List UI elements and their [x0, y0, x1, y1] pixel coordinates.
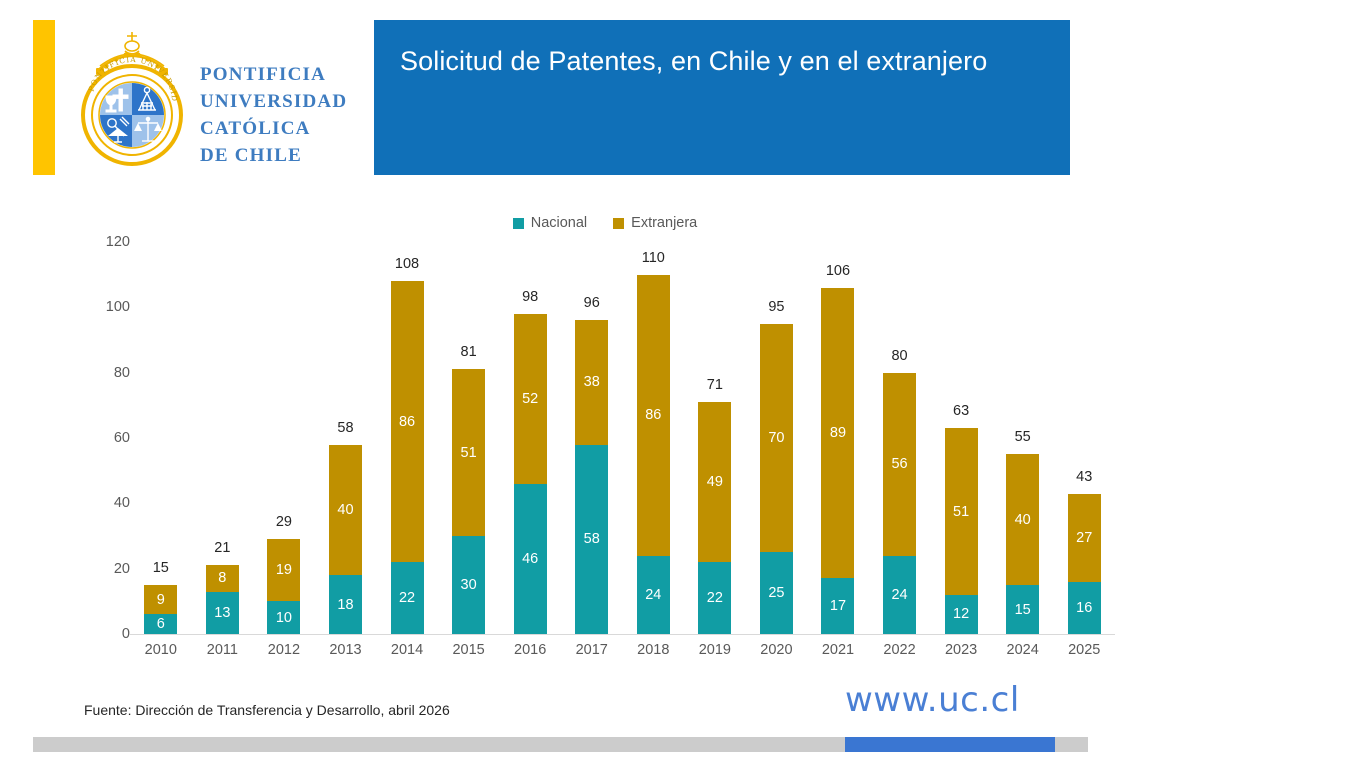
- bar-segment-value: 40: [1006, 512, 1039, 527]
- bar-segment-extranjera-2014[interactable]: 86: [391, 281, 424, 562]
- bar-stack: 1910: [267, 539, 300, 634]
- bar-segment-nacional-2023[interactable]: 12: [945, 595, 978, 634]
- bar-segment-value: 51: [452, 445, 485, 460]
- bar-stack: 5246: [514, 314, 547, 634]
- bar-total-label-2021: 106: [807, 264, 869, 279]
- bar-total-label-2013: 58: [315, 421, 377, 436]
- bar-segment-value: 52: [514, 392, 547, 407]
- bar-segment-nacional-2021[interactable]: 17: [821, 578, 854, 634]
- legend-label: Extranjera: [631, 216, 697, 231]
- bar-segment-extranjera-2010[interactable]: 9: [144, 585, 177, 614]
- bar-segment-value: 86: [637, 408, 670, 423]
- bar-segment-value: 58: [575, 532, 608, 547]
- bar-total-label-2019: 71: [684, 378, 746, 393]
- x-axis-tick-2021: 2021: [807, 642, 869, 658]
- bar-segment-extranjera-2015[interactable]: 51: [452, 369, 485, 536]
- bar-stack: 2716: [1068, 494, 1101, 634]
- x-axis-tick-2011: 2011: [192, 642, 254, 658]
- bar-total-label-2023: 63: [930, 404, 992, 419]
- bar-segment-value: 16: [1068, 601, 1101, 616]
- x-axis-tick-2015: 2015: [438, 642, 500, 658]
- bar-segment-nacional-2013[interactable]: 18: [329, 575, 362, 634]
- bar-segment-value: 40: [329, 503, 362, 518]
- y-axis-tick-20: 20: [84, 561, 130, 577]
- y-axis-tick-80: 80: [84, 365, 130, 381]
- bar-segment-extranjera-2024[interactable]: 40: [1006, 454, 1039, 585]
- bar-column-2021[interactable]: 89171062021: [807, 242, 869, 634]
- x-axis-tick-2014: 2014: [376, 642, 438, 658]
- bar-column-2010[interactable]: 96152010: [130, 242, 192, 634]
- brand-accent-bar: [33, 20, 55, 175]
- wordmark-line-3: Católica: [200, 116, 380, 143]
- bar-segment-extranjera-2022[interactable]: 56: [883, 373, 916, 556]
- bar-segment-extranjera-2017[interactable]: 38: [575, 320, 608, 444]
- bar-segment-nacional-2015[interactable]: 30: [452, 536, 485, 634]
- bar-stack: 8622: [391, 281, 424, 634]
- bar-total-label-2022: 80: [869, 349, 931, 364]
- x-axis-tick-2020: 2020: [746, 642, 808, 658]
- bar-segment-extranjera-2012[interactable]: 19: [267, 539, 300, 601]
- bar-segment-value: 56: [883, 457, 916, 472]
- bar-segment-value: 86: [391, 414, 424, 429]
- bar-segment-nacional-2025[interactable]: 16: [1068, 582, 1101, 634]
- x-axis-line: [130, 634, 1115, 635]
- bar-segment-nacional-2012[interactable]: 10: [267, 601, 300, 634]
- horizontal-scrollbar-thumb[interactable]: [845, 737, 1055, 752]
- bar-total-label-2016: 98: [499, 290, 561, 305]
- bar-column-2012[interactable]: 1910292012: [253, 242, 315, 634]
- patents-stacked-bar-chart: NacionalExtranjera 020406080100120 96152…: [0, 200, 1366, 670]
- bar-segment-extranjera-2021[interactable]: 89: [821, 288, 854, 579]
- page-title: Solicitud de Patentes, en Chile y en el …: [400, 42, 1044, 80]
- x-axis-tick-2017: 2017: [561, 642, 623, 658]
- bar-segment-value: 6: [144, 617, 177, 632]
- bar-segment-value: 19: [267, 563, 300, 578]
- y-axis-tick-60: 60: [84, 430, 130, 446]
- bar-segment-value: 70: [760, 431, 793, 446]
- legend-entry-nacional[interactable]: Nacional: [513, 216, 587, 231]
- wordmark-line-2: Universidad: [200, 89, 380, 116]
- bar-segment-value: 51: [945, 504, 978, 519]
- bar-total-label-2015: 81: [438, 345, 500, 360]
- uc-website-url: www.uc.cl: [845, 680, 1020, 720]
- bar-segment-extranjera-2023[interactable]: 51: [945, 428, 978, 595]
- bar-column-2016[interactable]: 5246982016: [499, 242, 561, 634]
- bar-column-2011[interactable]: 813212011: [192, 242, 254, 634]
- bar-stack: 813: [206, 565, 239, 634]
- bar-stack: 5130: [452, 369, 485, 634]
- bar-segment-value: 89: [821, 426, 854, 441]
- bar-segment-nacional-2014[interactable]: 22: [391, 562, 424, 634]
- y-axis-tick-100: 100: [84, 299, 130, 315]
- bar-segment-value: 38: [575, 375, 608, 390]
- bar-segment-value: 8: [206, 571, 239, 586]
- y-axis-tick-120: 120: [84, 234, 130, 250]
- x-axis-tick-2018: 2018: [623, 642, 685, 658]
- source-note: Fuente: Dirección de Transferencia y Des…: [84, 702, 450, 718]
- bar-total-label-2014: 108: [376, 257, 438, 272]
- bar-stack: 5112: [945, 428, 978, 634]
- bar-column-2014[interactable]: 86221082014: [376, 242, 438, 634]
- bar-total-label-2025: 43: [1053, 470, 1115, 485]
- y-axis: 020406080100120: [84, 242, 130, 634]
- bar-segment-value: 13: [206, 606, 239, 621]
- bar-segment-value: 22: [391, 591, 424, 606]
- bar-segment-extranjera-2013[interactable]: 40: [329, 445, 362, 576]
- bar-segment-nacional-2016[interactable]: 46: [514, 484, 547, 634]
- bar-stack: 3858: [575, 320, 608, 634]
- bar-segment-extranjera-2016[interactable]: 52: [514, 314, 547, 484]
- bar-segment-value: 49: [698, 475, 731, 490]
- bar-segment-extranjera-2025[interactable]: 27: [1068, 494, 1101, 582]
- bar-segment-extranjera-2020[interactable]: 70: [760, 324, 793, 553]
- bar-segment-value: 24: [637, 588, 670, 603]
- wordmark-line-1: Pontificia: [200, 62, 380, 89]
- bar-segment-nacional-2018[interactable]: 24: [637, 556, 670, 634]
- bar-segment-value: 18: [329, 597, 362, 612]
- bar-segment-value: 24: [883, 588, 916, 603]
- bar-stack: 4018: [329, 445, 362, 634]
- bar-column-2018[interactable]: 86241102018: [623, 242, 685, 634]
- bar-segment-nacional-2022[interactable]: 24: [883, 556, 916, 634]
- legend-swatch-icon: [513, 218, 524, 229]
- x-axis-tick-2022: 2022: [869, 642, 931, 658]
- bar-column-2019[interactable]: 4922712019: [684, 242, 746, 634]
- bar-stack: 8917: [821, 288, 854, 634]
- bar-segment-extranjera-2018[interactable]: 86: [637, 275, 670, 556]
- bar-segment-nacional-2011[interactable]: 13: [206, 592, 239, 634]
- legend-swatch-icon: [613, 218, 624, 229]
- bar-total-label-2011: 21: [192, 541, 254, 556]
- x-axis-tick-2016: 2016: [499, 642, 561, 658]
- bar-segment-value: 25: [760, 586, 793, 601]
- bar-column-2013[interactable]: 4018582013: [315, 242, 377, 634]
- bar-total-label-2024: 55: [992, 430, 1054, 445]
- x-axis-tick-2013: 2013: [315, 642, 377, 658]
- bar-segment-value: 9: [144, 592, 177, 607]
- bar-segment-value: 27: [1068, 530, 1101, 545]
- bar-column-2020[interactable]: 7025952020: [746, 242, 808, 634]
- y-axis-tick-0: 0: [84, 626, 130, 642]
- x-axis-tick-2012: 2012: [253, 642, 315, 658]
- x-axis-tick-2025: 2025: [1053, 642, 1115, 658]
- x-axis-tick-2024: 2024: [992, 642, 1054, 658]
- bar-stack: 5624: [883, 373, 916, 634]
- wordmark-line-4: de Chile: [200, 143, 380, 170]
- bar-stack: 96: [144, 585, 177, 634]
- x-axis-tick-2019: 2019: [684, 642, 746, 658]
- bar-total-label-2017: 96: [561, 296, 623, 311]
- bar-stack: 7025: [760, 324, 793, 634]
- bar-segment-nacional-2019[interactable]: 22: [698, 562, 731, 634]
- plot-area: 9615201081321201119102920124018582013862…: [130, 242, 1115, 634]
- bar-total-label-2010: 15: [130, 561, 192, 576]
- bar-segment-value: 12: [945, 607, 978, 622]
- bar-column-2015[interactable]: 5130812015: [438, 242, 500, 634]
- chart-legend: NacionalExtranjera: [0, 216, 1210, 231]
- bar-segment-extranjera-2011[interactable]: 8: [206, 565, 239, 591]
- x-axis-tick-2023: 2023: [930, 642, 992, 658]
- bar-column-2025[interactable]: 2716432025: [1053, 242, 1115, 634]
- bar-total-label-2012: 29: [253, 515, 315, 530]
- legend-entry-extranjera[interactable]: Extranjera: [613, 216, 697, 231]
- bar-segment-nacional-2020[interactable]: 25: [760, 552, 793, 634]
- bar-segment-value: 17: [821, 599, 854, 614]
- bar-column-2017[interactable]: 3858962017: [561, 242, 623, 634]
- y-axis-tick-40: 40: [84, 495, 130, 511]
- bar-column-2024[interactable]: 4015552024: [992, 242, 1054, 634]
- bar-segment-value: 22: [698, 591, 731, 606]
- bar-segment-value: 30: [452, 578, 485, 593]
- horizontal-scrollbar[interactable]: [33, 737, 1088, 752]
- bar-segment-nacional-2017[interactable]: 58: [575, 445, 608, 634]
- legend-label: Nacional: [531, 216, 587, 231]
- uc-wordmark: Pontificia Universidad Católica de Chile: [200, 62, 380, 170]
- bar-segment-extranjera-2019[interactable]: 49: [698, 402, 731, 562]
- x-axis-tick-2010: 2010: [130, 642, 192, 658]
- bar-column-2023[interactable]: 5112632023: [930, 242, 992, 634]
- bar-segment-nacional-2024[interactable]: 15: [1006, 585, 1039, 634]
- slide-header: PONTIFICIA UNIVERSIDAD CATOLICA DE CHILE: [0, 0, 1366, 195]
- title-banner: Solicitud de Patentes, en Chile y en el …: [374, 20, 1070, 175]
- bar-column-2022[interactable]: 5624802022: [869, 242, 931, 634]
- uc-seal-logo: PONTIFICIA UNIVERSIDAD CATOLICA DE CHILE: [76, 26, 188, 172]
- bar-total-label-2018: 110: [623, 251, 685, 266]
- bar-segment-value: 46: [514, 552, 547, 567]
- bar-segment-value: 15: [1006, 602, 1039, 617]
- bar-segment-nacional-2010[interactable]: 6: [144, 614, 177, 634]
- bar-stack: 4922: [698, 402, 731, 634]
- bar-stack: 8624: [637, 275, 670, 634]
- bar-total-label-2020: 95: [746, 300, 808, 315]
- bar-stack: 4015: [1006, 454, 1039, 634]
- bar-segment-value: 10: [267, 610, 300, 625]
- plot-frame: 020406080100120 961520108132120111910292…: [0, 242, 1366, 670]
